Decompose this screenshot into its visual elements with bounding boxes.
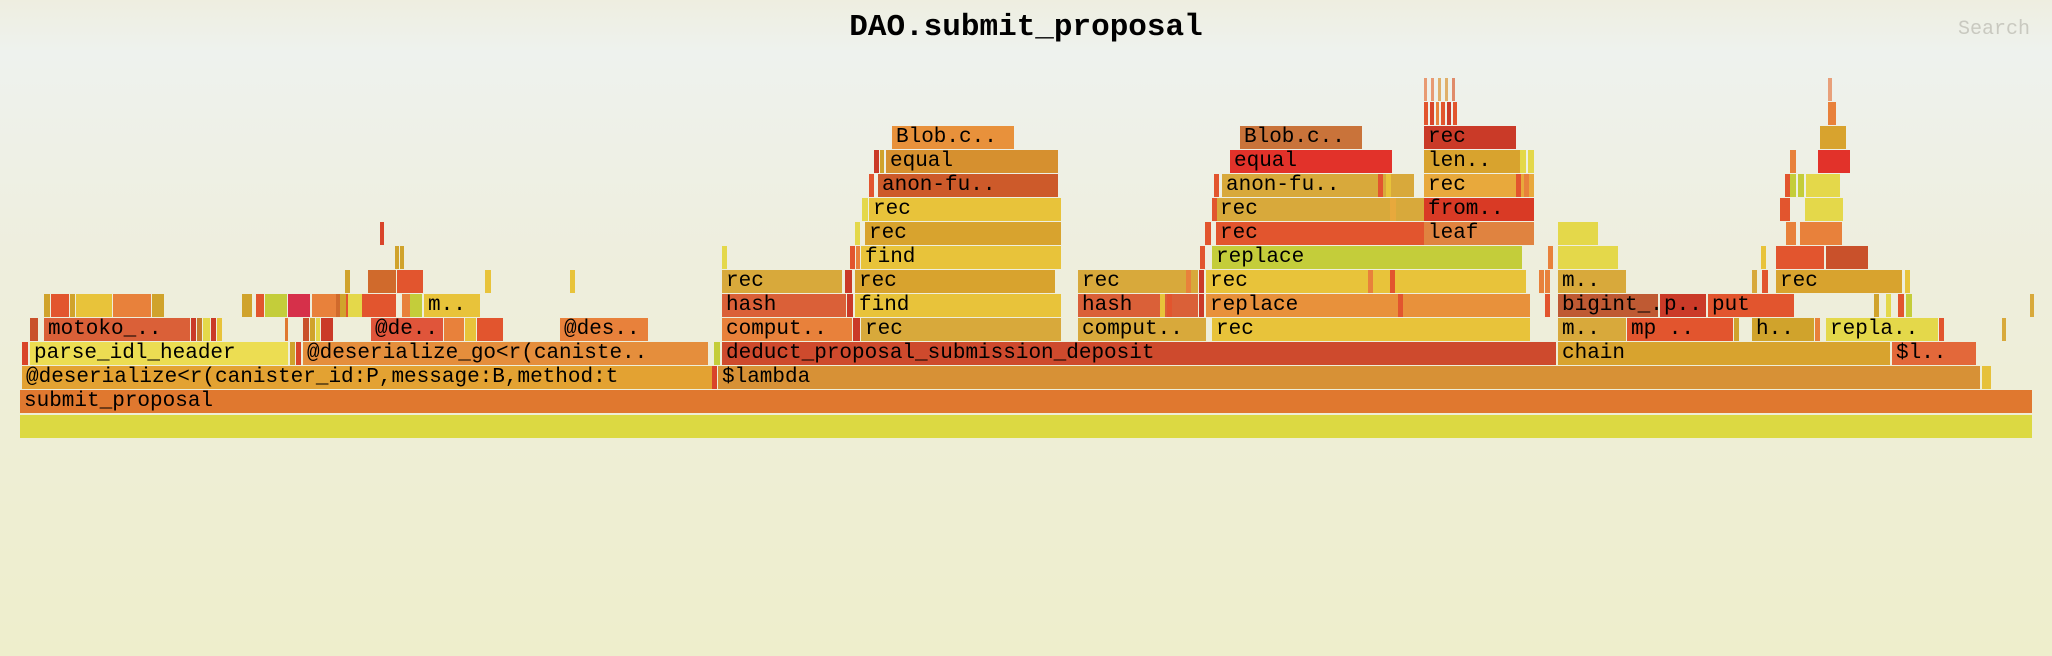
flame-frame-unlabeled[interactable] — [1874, 294, 1879, 317]
flame-frame[interactable]: parse_idl_header — [30, 342, 288, 365]
flame-frame-unlabeled[interactable] — [76, 294, 112, 317]
flame-frame-unlabeled[interactable] — [1548, 246, 1553, 269]
flame-frame[interactable]: $l.. — [1892, 342, 1976, 365]
flame-frame-unlabeled[interactable] — [722, 246, 727, 269]
flame-frame[interactable]: rec — [861, 318, 1061, 341]
flame-frame-unlabeled[interactable] — [1167, 294, 1172, 317]
flame-frame[interactable]: submit_proposal — [20, 390, 2032, 413]
flame-frame-unlabeled[interactable] — [1798, 174, 1804, 197]
flame-frame-unlabeled[interactable] — [1447, 102, 1451, 125]
flame-frame-unlabeled[interactable] — [51, 294, 69, 317]
flame-frame-unlabeled[interactable] — [1452, 78, 1455, 101]
flame-frame-unlabeled[interactable] — [845, 270, 852, 293]
flame-frame[interactable]: from.. — [1424, 198, 1534, 221]
flame-frame[interactable]: deduct_proposal_submission_deposit — [722, 342, 1556, 365]
flame-frame-unlabeled[interactable] — [1752, 270, 1757, 293]
flame-frame-unlabeled[interactable] — [44, 294, 50, 317]
flame-frame[interactable]: find — [861, 246, 1061, 269]
flame-frame-unlabeled[interactable] — [1524, 174, 1529, 197]
flame-frame[interactable]: motoko_.. — [44, 318, 190, 341]
flame-frame-unlabeled[interactable] — [1386, 174, 1391, 197]
flame-frame[interactable]: replace — [1206, 294, 1530, 317]
flame-frame[interactable]: chain — [1558, 342, 1890, 365]
flame-frame-unlabeled[interactable] — [30, 318, 38, 341]
flame-frame[interactable]: bigint_.. — [1558, 294, 1658, 317]
flame-frame-unlabeled[interactable] — [290, 342, 295, 365]
flame-frame[interactable]: Blob.c.. — [1240, 126, 1362, 149]
flame-frame-unlabeled[interactable] — [1424, 78, 1427, 101]
flame-frame[interactable]: m.. — [1558, 270, 1626, 293]
flame-frame-unlabeled[interactable] — [1886, 294, 1891, 317]
flamegraph-canvas[interactable]: submit_proposal@deserialize<r(canister_i… — [0, 0, 2052, 656]
flame-frame[interactable]: rec — [865, 222, 1061, 245]
flame-frame-unlabeled[interactable] — [1828, 102, 1836, 125]
flame-frame-unlabeled[interactable] — [1815, 318, 1820, 341]
flame-frame-unlabeled[interactable] — [1398, 294, 1403, 317]
flame-frame[interactable]: @de.. — [371, 318, 443, 341]
flame-frame-unlabeled[interactable] — [345, 270, 350, 293]
flame-frame[interactable]: put — [1708, 294, 1794, 317]
flame-frame[interactable]: replace — [1212, 246, 1522, 269]
flame-frame-unlabeled[interactable] — [1806, 174, 1840, 197]
flame-frame-unlabeled[interactable] — [1818, 150, 1850, 173]
flame-frame-unlabeled[interactable] — [368, 270, 396, 293]
flame-frame-unlabeled[interactable] — [1805, 198, 1843, 221]
flame-frame-unlabeled[interactable] — [1820, 126, 1846, 149]
flame-frame-unlabeled[interactable] — [410, 294, 422, 317]
flame-frame-unlabeled[interactable] — [1430, 102, 1434, 125]
flame-frame-unlabeled[interactable] — [303, 318, 309, 341]
flame-frame[interactable]: rec — [855, 270, 1055, 293]
flame-frame-unlabeled[interactable] — [1776, 246, 1824, 269]
flame-frame-unlabeled[interactable] — [1898, 294, 1904, 317]
flame-frame-unlabeled[interactable] — [397, 270, 423, 293]
flame-frame-unlabeled[interactable] — [1734, 318, 1739, 341]
flame-frame-unlabeled[interactable] — [1545, 270, 1550, 293]
flame-frame[interactable]: hash — [722, 294, 846, 317]
flame-frame-unlabeled[interactable] — [1516, 174, 1521, 197]
flame-frame-unlabeled[interactable] — [1424, 102, 1428, 125]
flame-frame-unlabeled[interactable] — [321, 318, 333, 341]
flame-frame-unlabeled[interactable] — [712, 366, 717, 389]
flame-frame[interactable]: @deserialize_go<r(caniste.. — [303, 342, 708, 365]
flame-frame[interactable]: rec — [1206, 270, 1526, 293]
flame-frame[interactable]: @des.. — [560, 318, 648, 341]
flame-frame-unlabeled[interactable] — [1558, 222, 1598, 245]
flame-frame-unlabeled[interactable] — [1905, 270, 1910, 293]
flamegraph-app: DAO.submit_proposal Search submit_propos… — [0, 0, 2052, 656]
flame-frame-unlabeled[interactable] — [152, 294, 164, 317]
flame-frame[interactable]: equal — [886, 150, 1058, 173]
flame-frame-unlabeled[interactable] — [1199, 294, 1204, 317]
flame-frame-unlabeled[interactable] — [1199, 270, 1204, 293]
flame-frame-unlabeled[interactable] — [316, 318, 320, 341]
flame-frame-unlabeled[interactable] — [862, 198, 868, 221]
flame-frame-unlabeled[interactable] — [366, 294, 396, 317]
flame-frame[interactable]: Blob.c.. — [892, 126, 1014, 149]
flame-frame-unlabeled[interactable] — [856, 246, 860, 269]
flame-frame-unlabeled[interactable] — [217, 318, 222, 341]
flame-frame-unlabeled[interactable] — [1436, 102, 1439, 125]
flame-frame-unlabeled[interactable] — [485, 270, 490, 293]
flame-frame-unlabeled[interactable] — [312, 294, 336, 317]
flame-frame-unlabeled[interactable] — [380, 222, 384, 245]
flame-frame-unlabeled[interactable] — [1828, 78, 1832, 101]
flame-frame-unlabeled[interactable] — [211, 318, 216, 341]
flame-frame-unlabeled[interactable] — [70, 294, 75, 317]
flame-frame-unlabeled[interactable] — [853, 318, 860, 341]
flame-frame[interactable]: rec — [1078, 270, 1198, 293]
flame-frame-unlabeled[interactable] — [880, 150, 884, 173]
flame-frame[interactable]: comput.. — [1078, 318, 1206, 341]
flame-frame-unlabeled[interactable] — [1982, 366, 1991, 389]
flame-frame-unlabeled[interactable] — [22, 342, 28, 365]
flame-frame-unlabeled[interactable] — [197, 318, 202, 341]
flame-frame[interactable]: repla.. — [1826, 318, 1938, 341]
flame-frame[interactable]: rec — [722, 270, 842, 293]
flame-frame-unlabeled[interactable] — [203, 318, 210, 341]
flame-frame-unlabeled[interactable] — [265, 294, 287, 317]
flame-frame[interactable]: rec — [869, 198, 1061, 221]
flame-frame-unlabeled[interactable] — [1780, 198, 1790, 221]
flame-frame[interactable]: hash — [1078, 294, 1198, 317]
flame-frame-unlabeled[interactable] — [1378, 174, 1383, 197]
flame-frame-unlabeled[interactable] — [395, 246, 399, 269]
flame-frame-unlabeled[interactable] — [1160, 294, 1165, 317]
flame-frame-unlabeled[interactable] — [869, 174, 874, 197]
flame-frame-unlabeled[interactable] — [1441, 102, 1445, 125]
flame-frame-unlabeled[interactable] — [1520, 150, 1526, 173]
flame-frame-unlabeled[interactable] — [850, 246, 855, 269]
flame-frame-unlabeled[interactable] — [570, 270, 575, 293]
flame-frame-unlabeled[interactable] — [2030, 294, 2034, 317]
flame-frame-unlabeled[interactable] — [242, 294, 252, 317]
flame-frame-unlabeled[interactable] — [1906, 294, 1912, 317]
flame-frame-unlabeled[interactable] — [847, 294, 853, 317]
flame-frame-unlabeled[interactable] — [1368, 270, 1373, 293]
flame-frame[interactable]: @deserialize<r(canister_id:P,message:B,m… — [22, 366, 712, 389]
flame-frame-unlabeled[interactable] — [1539, 270, 1544, 293]
flame-frame-unlabeled[interactable] — [400, 246, 404, 269]
flame-frame-unlabeled[interactable] — [477, 318, 503, 341]
flame-frame-unlabeled[interactable] — [1790, 174, 1796, 197]
flame-frame-unlabeled[interactable] — [1390, 270, 1395, 293]
flame-frame-unlabeled[interactable] — [348, 294, 362, 317]
flame-frame-unlabeled[interactable] — [1558, 246, 1618, 269]
flame-frame-unlabeled[interactable] — [1445, 78, 1448, 101]
flame-frame-unlabeled[interactable] — [256, 294, 264, 317]
flame-frame-unlabeled[interactable] — [1939, 318, 1944, 341]
flame-frame[interactable]: rec — [1212, 318, 1530, 341]
flame-frame-unlabeled[interactable] — [310, 318, 315, 341]
flame-frame[interactable]: leaf — [1424, 222, 1534, 245]
flame-frame-unlabeled[interactable] — [402, 294, 410, 317]
flame-frame-unlabeled[interactable] — [1431, 78, 1434, 101]
flame-frame[interactable]: p.. — [1660, 294, 1706, 317]
flame-frame-unlabeled[interactable] — [1453, 102, 1457, 125]
flame-frame-unlabeled[interactable] — [444, 318, 464, 341]
flame-frame-unlabeled[interactable] — [288, 294, 310, 317]
flame-frame-unlabeled[interactable] — [1762, 270, 1768, 293]
flame-frame[interactable]: len.. — [1424, 150, 1520, 173]
flame-frame-unlabeled[interactable] — [191, 318, 196, 341]
flame-frame-unlabeled[interactable] — [855, 222, 860, 245]
flame-frame-unlabeled[interactable] — [1390, 198, 1396, 221]
flame-frame-unlabeled[interactable] — [1786, 222, 1796, 245]
flame-frame[interactable]: anon-fu.. — [878, 174, 1058, 197]
flame-frame[interactable]: mp .. — [1627, 318, 1733, 341]
flame-frame-unlabeled[interactable] — [2002, 318, 2006, 341]
flame-frame-unlabeled[interactable] — [1186, 270, 1191, 293]
flame-frame[interactable]: comput.. — [722, 318, 852, 341]
flame-frame-unlabeled[interactable] — [340, 294, 346, 317]
flame-frame[interactable]: equal — [1230, 150, 1392, 173]
flame-frame-unlabeled[interactable] — [113, 294, 151, 317]
flame-frame-unlabeled[interactable] — [1212, 198, 1217, 221]
flame-frame-unlabeled[interactable] — [1528, 150, 1534, 173]
flame-frame[interactable]: rec — [1424, 126, 1516, 149]
flame-frame-unlabeled[interactable] — [874, 150, 879, 173]
flame-frame-unlabeled[interactable] — [1205, 222, 1211, 245]
flame-frame[interactable]: h.. — [1752, 318, 1814, 341]
flame-frame-unlabeled[interactable] — [714, 342, 720, 365]
flame-frame-unlabeled[interactable] — [285, 318, 288, 341]
flame-frame-unlabeled[interactable] — [1200, 246, 1205, 269]
flame-frame-unlabeled[interactable] — [1380, 270, 1385, 293]
flame-frame[interactable]: $lambda — [718, 366, 1980, 389]
flame-frame-unlabeled[interactable] — [1438, 78, 1441, 101]
flame-frame-unlabeled[interactable] — [296, 342, 301, 365]
flame-frame-unlabeled[interactable] — [1790, 150, 1796, 173]
flame-frame-unlabeled[interactable] — [20, 415, 2032, 438]
flame-frame-unlabeled[interactable] — [465, 318, 476, 341]
flame-frame[interactable]: m.. — [424, 294, 480, 317]
flame-frame-unlabeled[interactable] — [1800, 222, 1842, 245]
flame-frame[interactable]: rec — [1776, 270, 1902, 293]
flame-frame-unlabeled[interactable] — [1214, 174, 1219, 197]
flame-frame-unlabeled[interactable] — [1761, 246, 1766, 269]
flame-frame-unlabeled[interactable] — [1826, 246, 1868, 269]
flame-frame[interactable]: m.. — [1558, 318, 1626, 341]
flame-frame-unlabeled[interactable] — [1545, 294, 1550, 317]
flame-frame[interactable]: find — [855, 294, 1061, 317]
